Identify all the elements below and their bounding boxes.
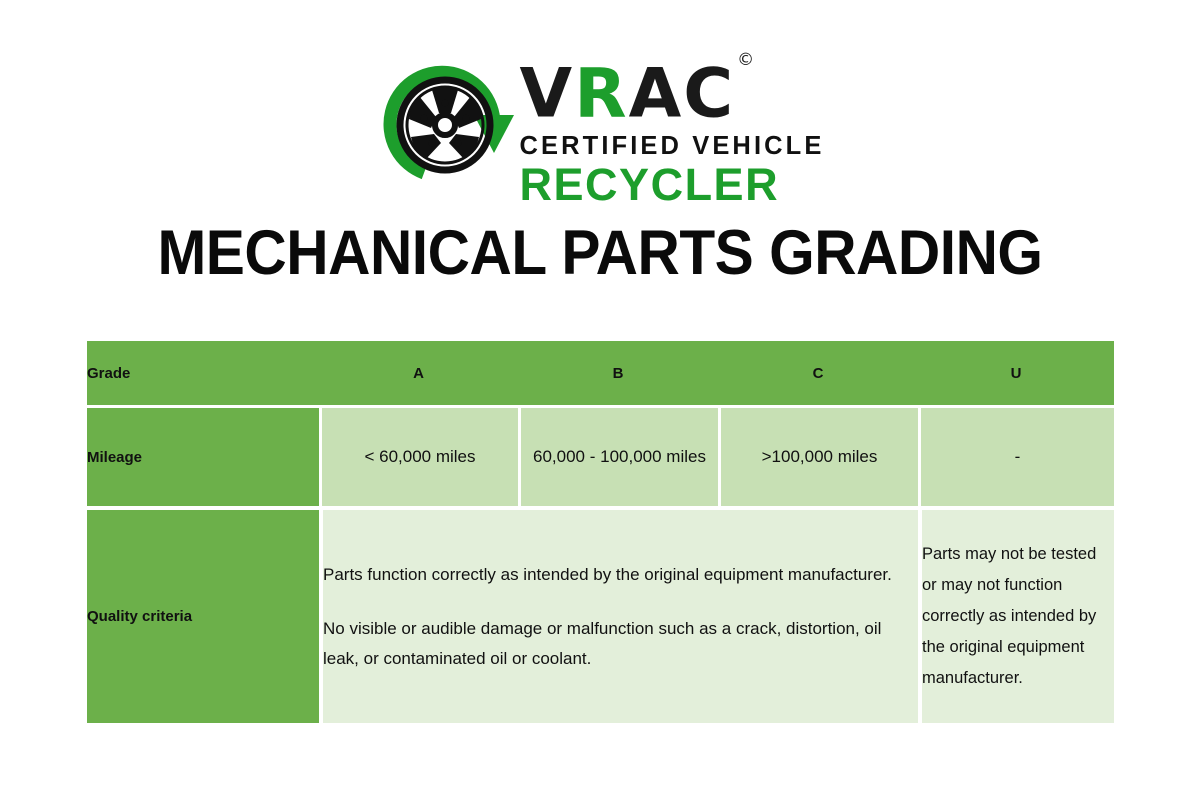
logo-letter-r: R (574, 55, 628, 134)
column-header-b: B (518, 341, 718, 405)
row-label-quality-criteria: Quality criteria (87, 506, 319, 723)
column-header-c: C (718, 341, 918, 405)
quality-paragraph-2: No visible or audible damage or malfunct… (323, 614, 918, 674)
page-title: MECHANICAL PARTS GRADING (42, 216, 1158, 290)
copyright-icon: © (737, 50, 754, 70)
cell-mileage-c: >100,000 miles (718, 405, 918, 506)
logo-wordmark: VRAC© CERTIFIED VEHICLE RECYCLER (520, 52, 825, 208)
grading-table: Grade A B C U Mileage < 60,000 miles 60,… (87, 341, 1114, 723)
logo-recycler-text: RECYCLER (520, 162, 825, 208)
logo-letter-v: V (520, 55, 575, 134)
logo-letters-ac: AC (629, 55, 736, 134)
quality-u-paragraph: Parts may not be tested or may not funct… (922, 539, 1114, 694)
row-label-mileage: Mileage (87, 405, 319, 506)
cell-mileage-b: 60,000 - 100,000 miles (518, 405, 718, 506)
table-header-row: Grade A B C U (87, 341, 1114, 405)
table-row-quality-criteria: Quality criteria Parts function correctl… (87, 506, 1114, 723)
cell-quality-abc: Parts function correctly as intended by … (319, 506, 918, 723)
brand-logo: VRAC© CERTIFIED VEHICLE RECYCLER (0, 52, 1200, 202)
column-header-a: A (319, 341, 518, 405)
cell-mileage-a: < 60,000 miles (319, 405, 518, 506)
cell-quality-u: Parts may not be tested or may not funct… (918, 506, 1114, 723)
logo-vrac-text: VRAC© (520, 54, 825, 129)
logo-inner: VRAC© CERTIFIED VEHICLE RECYCLER (376, 52, 825, 208)
logo-tagline: CERTIFIED VEHICLE (520, 131, 825, 161)
column-header-u: U (918, 341, 1114, 405)
table-row-mileage: Mileage < 60,000 miles 60,000 - 100,000 … (87, 405, 1114, 506)
quality-paragraph-1: Parts function correctly as intended by … (323, 560, 918, 590)
cell-mileage-u: - (918, 405, 1114, 506)
recycling-wheel-icon (376, 52, 514, 194)
column-header-grade: Grade (87, 341, 319, 405)
